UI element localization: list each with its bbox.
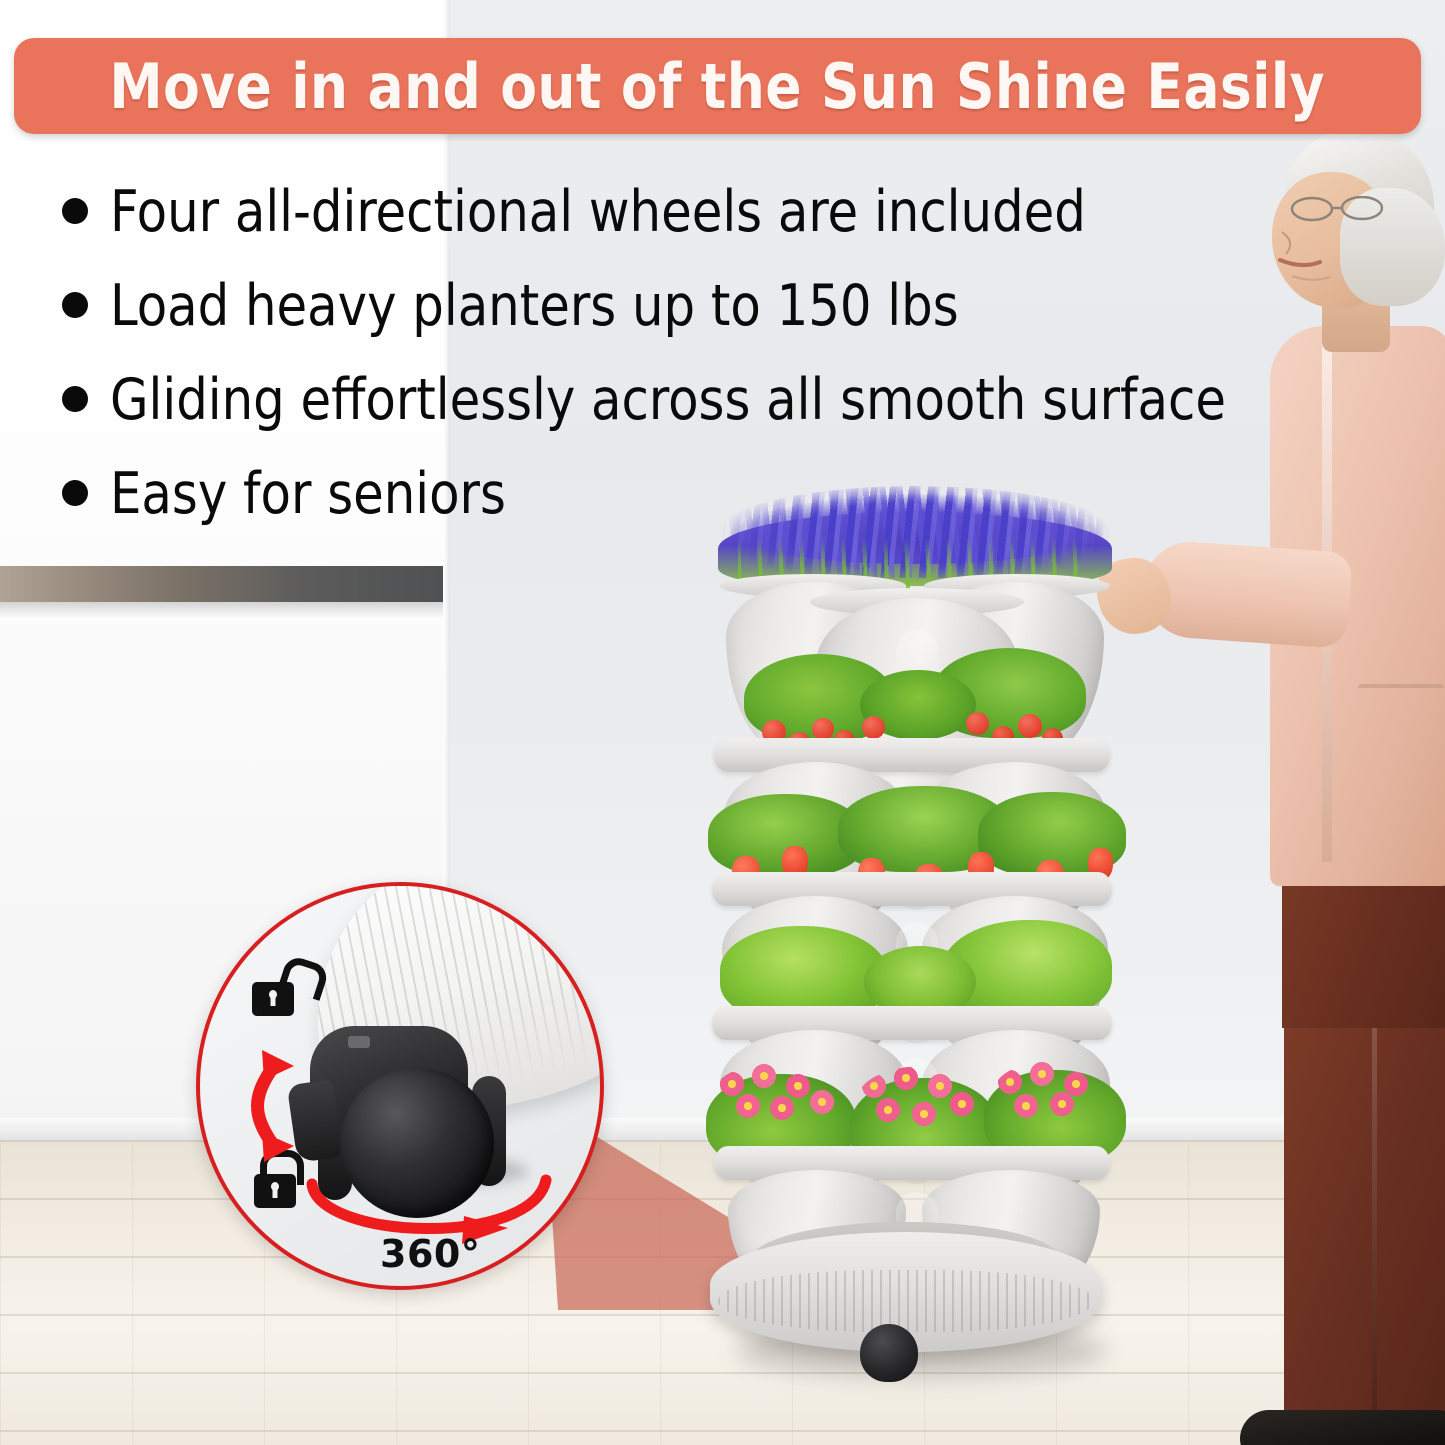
feature-item-label: Four all-directional wheels are included [110, 180, 1086, 244]
rotation-label: 360° [380, 1232, 480, 1276]
feature-item: Gliding effortlessly across all smooth s… [62, 368, 1422, 432]
header-banner-text: Move in and out of the Sun Shine Easily [110, 50, 1326, 123]
person-shoe [1240, 1410, 1445, 1445]
feature-item: Four all-directional wheels are included [62, 180, 1422, 244]
product-feature-image: 360° Move in and out of the Sun Shine Ea… [0, 0, 1445, 1445]
feature-item: Easy for seniors [62, 462, 1422, 526]
wheel-detail-callout: 360° [196, 882, 604, 1290]
lock-icon [254, 1174, 296, 1208]
cardigan-pocket [1358, 684, 1444, 780]
planter-tower [700, 470, 1130, 1400]
double-arrow-vertical-icon [244, 1044, 316, 1168]
pants-crease [1372, 1028, 1377, 1428]
person-pants [1284, 1008, 1445, 1445]
bullet-marker-icon [62, 292, 88, 318]
bullet-marker-icon [62, 480, 88, 506]
feature-item-label: Gliding effortlessly across all smooth s… [110, 368, 1226, 432]
header-banner: Move in and out of the Sun Shine Easily [14, 38, 1421, 134]
bullet-marker-icon [62, 386, 88, 412]
rolling-base-ribs [718, 1270, 1094, 1332]
caster-stem [348, 1036, 370, 1048]
bullet-marker-icon [62, 198, 88, 224]
feature-list: Four all-directional wheels are included… [62, 180, 1422, 556]
feature-item-label: Easy for seniors [110, 462, 506, 526]
unlock-icon [252, 982, 294, 1016]
counter-edge [0, 566, 443, 602]
counter-shadow [0, 602, 443, 618]
feature-item: Load heavy planters up to 150 lbs [62, 274, 1422, 338]
caster-wheel [860, 1324, 918, 1382]
feature-item-label: Load heavy planters up to 150 lbs [110, 274, 959, 338]
